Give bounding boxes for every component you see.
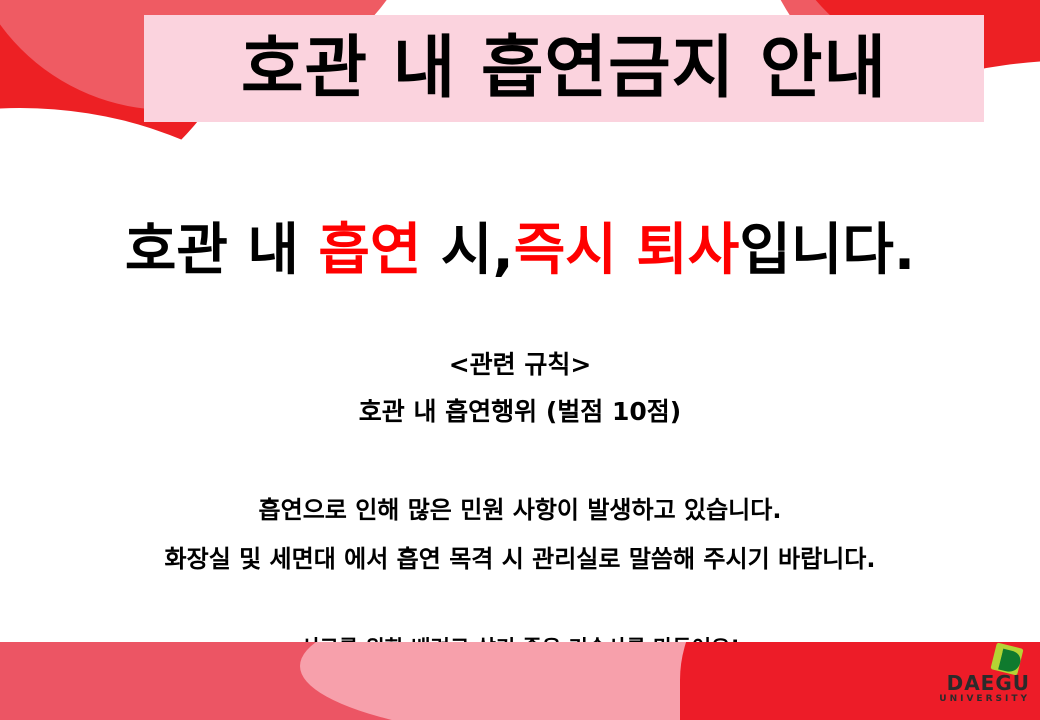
poster-canvas: 호관 내 흡연금지 안내 호관 내 흡연 시,즉시 퇴사입니다. <관련 규칙>… xyxy=(0,0,1040,720)
headline-segment-5: 입니다. xyxy=(739,218,915,283)
headline-segment-3: 시, xyxy=(421,218,513,283)
logo-subtitle: UNIVERSITY xyxy=(939,695,1030,704)
logo-name: DAEGU xyxy=(939,673,1030,693)
title-banner: 호관 내 흡연금지 안내 xyxy=(144,15,984,122)
notice-body-line-2: 화장실 및 세면대 에서 흡연 목격 시 관리실로 말씀해 주시기 바랍니다. xyxy=(0,547,1040,571)
notice-body-line-1: 흡연으로 인해 많은 민원 사항이 발생하고 있습니다. xyxy=(0,498,1040,522)
poster-title: 호관 내 흡연금지 안내 xyxy=(241,35,887,103)
rules-heading: <관련 규칙> xyxy=(0,352,1040,377)
notice-body: 흡연으로 인해 많은 민원 사항이 발생하고 있습니다. 화장실 및 세면대 에… xyxy=(0,498,1040,571)
logo-wordmark: DAEGU UNIVERSITY xyxy=(939,673,1030,704)
related-rules-block: <관련 규칙> 호관 내 흡연행위 (벌점 10점) xyxy=(0,352,1040,424)
headline-segment-smoking: 흡연 xyxy=(318,218,421,283)
headline-segment-immediate-eviction: 즉시 퇴사 xyxy=(514,218,740,283)
headline: 호관 내 흡연 시,즉시 퇴사입니다. xyxy=(0,222,1040,281)
rules-item-penalty: 호관 내 흡연행위 (벌점 10점) xyxy=(0,399,1040,424)
bottom-decorative-band xyxy=(0,642,1040,720)
university-logo: DAEGU UNIVERSITY xyxy=(904,640,1032,708)
headline-segment-1: 호관 내 xyxy=(125,218,319,283)
